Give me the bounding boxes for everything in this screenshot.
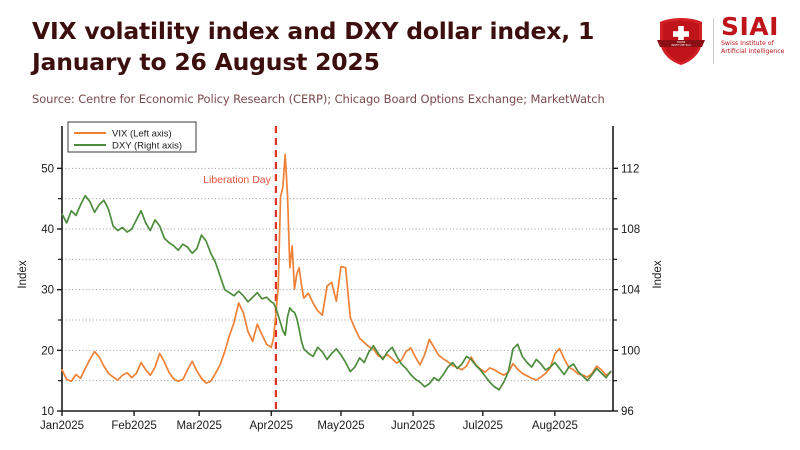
svg-text:96: 96 xyxy=(621,406,634,418)
y2-axis-ticks: 96100104108112 xyxy=(613,163,641,418)
svg-text:20: 20 xyxy=(41,345,54,357)
chart-legend: VIX (Left axis)DXY (Right axis) xyxy=(68,122,196,152)
header: VIX volatility index and DXY dollar inde… xyxy=(0,0,800,118)
svg-text:50: 50 xyxy=(41,163,54,175)
swiss-shield-cross-icon: SWISS INSTITUTE SIAI xyxy=(655,16,707,66)
logo-subtitle-line1: Swiss Institute of xyxy=(721,40,791,48)
svg-text:100: 100 xyxy=(621,345,640,357)
svg-text:Jun2025: Jun2025 xyxy=(391,420,435,432)
svg-text:May2025: May2025 xyxy=(317,420,364,432)
logo-divider xyxy=(713,18,714,64)
svg-text:112: 112 xyxy=(621,163,639,175)
page-title: VIX volatility index and DXY dollar inde… xyxy=(32,16,632,78)
svg-text:30: 30 xyxy=(41,285,54,297)
y-axis-ticks: 1020304050 xyxy=(41,163,62,418)
chart-container: 1020304050 96100104108112 Jan2025Feb2025… xyxy=(0,118,800,450)
svg-text:Index: Index xyxy=(652,260,664,288)
svg-text:DXY (Right axis): DXY (Right axis) xyxy=(112,141,182,152)
svg-text:104: 104 xyxy=(621,285,641,297)
logo-subtitle-line2: Artificial Intelligence xyxy=(721,48,791,56)
svg-text:Mar2025: Mar2025 xyxy=(176,420,221,432)
data-series xyxy=(62,154,611,389)
svg-text:Liberation Day: Liberation Day xyxy=(203,174,271,186)
svg-text:INSTITUTE SIAI: INSTITUTE SIAI xyxy=(671,43,690,47)
x-axis-ticks: Jan2025Feb2025Mar2025Apr2025May2025Jun20… xyxy=(40,411,578,432)
vix-dxy-line-chart: 1020304050 96100104108112 Jan2025Feb2025… xyxy=(0,118,800,450)
svg-text:10: 10 xyxy=(41,406,54,418)
svg-text:108: 108 xyxy=(621,224,640,236)
siai-logo: SWISS INSTITUTE SIAI SIAI Swiss Institut… xyxy=(655,14,791,70)
svg-text:Aug2025: Aug2025 xyxy=(532,420,578,432)
svg-text:Jul2025: Jul2025 xyxy=(463,420,503,432)
svg-text:Index: Index xyxy=(17,260,29,288)
source-caption: Source: Centre for Economic Policy Resea… xyxy=(32,92,605,106)
svg-text:VIX (Left axis): VIX (Left axis) xyxy=(112,129,172,140)
svg-text:Feb2025: Feb2025 xyxy=(111,420,156,432)
logo-text: SIAI Swiss Institute of Artificial Intel… xyxy=(721,14,791,56)
svg-text:40: 40 xyxy=(41,224,54,236)
svg-text:Apr2025: Apr2025 xyxy=(249,420,292,432)
svg-text:Jan2025: Jan2025 xyxy=(40,420,84,432)
logo-acronym: SIAI xyxy=(721,14,791,40)
